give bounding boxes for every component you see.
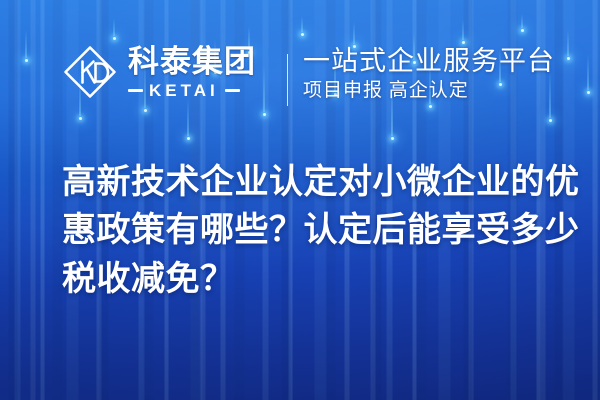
light-particle — [520, 14, 524, 32]
particle-dot — [462, 41, 465, 44]
light-particle — [300, 16, 304, 36]
particle-dot — [391, 137, 394, 140]
light-particle — [262, 66, 266, 116]
particle-dot — [113, 37, 116, 40]
particle-tail — [264, 66, 265, 112]
slogan-main: 一站式企业服务平台 — [303, 46, 555, 76]
particle-tail — [114, 18, 115, 36]
particle-dot — [549, 119, 552, 122]
headline-line-1: 高新技术企业认定对小微企业的优 — [62, 158, 562, 206]
slogan: 一站式企业服务平台 项目申报 高企认定 — [303, 46, 555, 102]
slogan-sub: 项目申报 高企认定 — [303, 80, 555, 102]
particle-dot — [79, 117, 82, 120]
light-particle — [566, 30, 570, 60]
headline: 高新技术企业认定对小微企业的优 惠政策有哪些？认定后能享受多少 税收减免？ — [62, 158, 562, 303]
headline-line-3: 税收减免？ — [62, 255, 562, 303]
particle-dot — [429, 105, 432, 108]
particle-tail — [463, 20, 464, 40]
particle-tail — [26, 30, 27, 58]
brand-name-cn: 科泰集团 — [128, 45, 256, 78]
brand-name-en-row: KETAI — [128, 82, 256, 99]
header-divider — [287, 54, 288, 106]
light-particle — [112, 18, 116, 40]
light-particle — [461, 20, 465, 44]
dash-right-icon — [225, 89, 240, 92]
light-particle — [24, 30, 28, 62]
particle-dot — [144, 109, 147, 112]
particle-dot — [567, 57, 570, 60]
headline-line-2: 惠政策有哪些？认定后能享受多少 — [62, 206, 562, 254]
brand-logo[interactable]: 科泰集团 KETAI — [62, 44, 256, 100]
light-particle — [352, 22, 356, 48]
particle-dot — [301, 33, 304, 36]
particle-dot — [25, 59, 28, 62]
particle-dot — [187, 137, 190, 140]
light-particle — [586, 54, 590, 94]
particle-dot — [587, 91, 590, 94]
particle-tail — [188, 98, 189, 136]
particle-tail — [588, 54, 589, 90]
brand-name-en: KETAI — [149, 82, 219, 99]
particle-tail — [568, 30, 569, 56]
brand-wordmark: 科泰集团 KETAI — [128, 45, 256, 98]
particle-dot — [263, 113, 266, 116]
particle-tail — [354, 22, 355, 44]
particle-tail — [522, 14, 523, 28]
dash-left-icon — [128, 89, 143, 92]
light-particle — [186, 98, 190, 140]
promo-banner: 科泰集团 KETAI 一站式企业服务平台 项目申报 高企认定 高新技术企业认定对… — [0, 0, 600, 400]
particle-dot — [521, 29, 524, 32]
particle-tail — [302, 16, 303, 32]
ketai-diamond-monogram-icon — [62, 44, 118, 100]
